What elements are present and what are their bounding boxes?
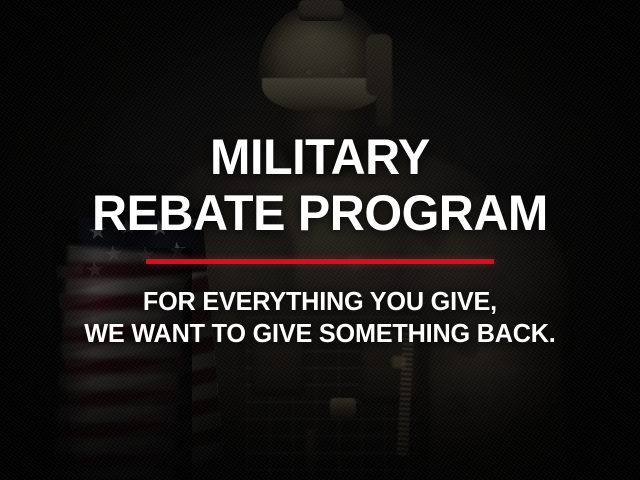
subhead-line-1: FOR EVERYTHING YOU GIVE, <box>84 285 555 317</box>
banner-content: MILITARY REBATE PROGRAM FOR EVERYTHING Y… <box>0 0 640 480</box>
banner-subheadline: FOR EVERYTHING YOU GIVE, WE WANT TO GIVE… <box>84 285 555 349</box>
military-rebate-banner: MILITARY REBATE PROGRAM FOR EVERYTHING Y… <box>0 0 640 480</box>
red-divider-rule <box>146 259 494 264</box>
divider-wrap <box>0 259 640 264</box>
headline-line-1: MILITARY <box>92 129 548 185</box>
headline-line-2: REBATE PROGRAM <box>92 185 548 241</box>
subhead-line-2: WE WANT TO GIVE SOMETHING BACK. <box>84 317 555 349</box>
banner-headline: MILITARY REBATE PROGRAM <box>92 129 548 241</box>
